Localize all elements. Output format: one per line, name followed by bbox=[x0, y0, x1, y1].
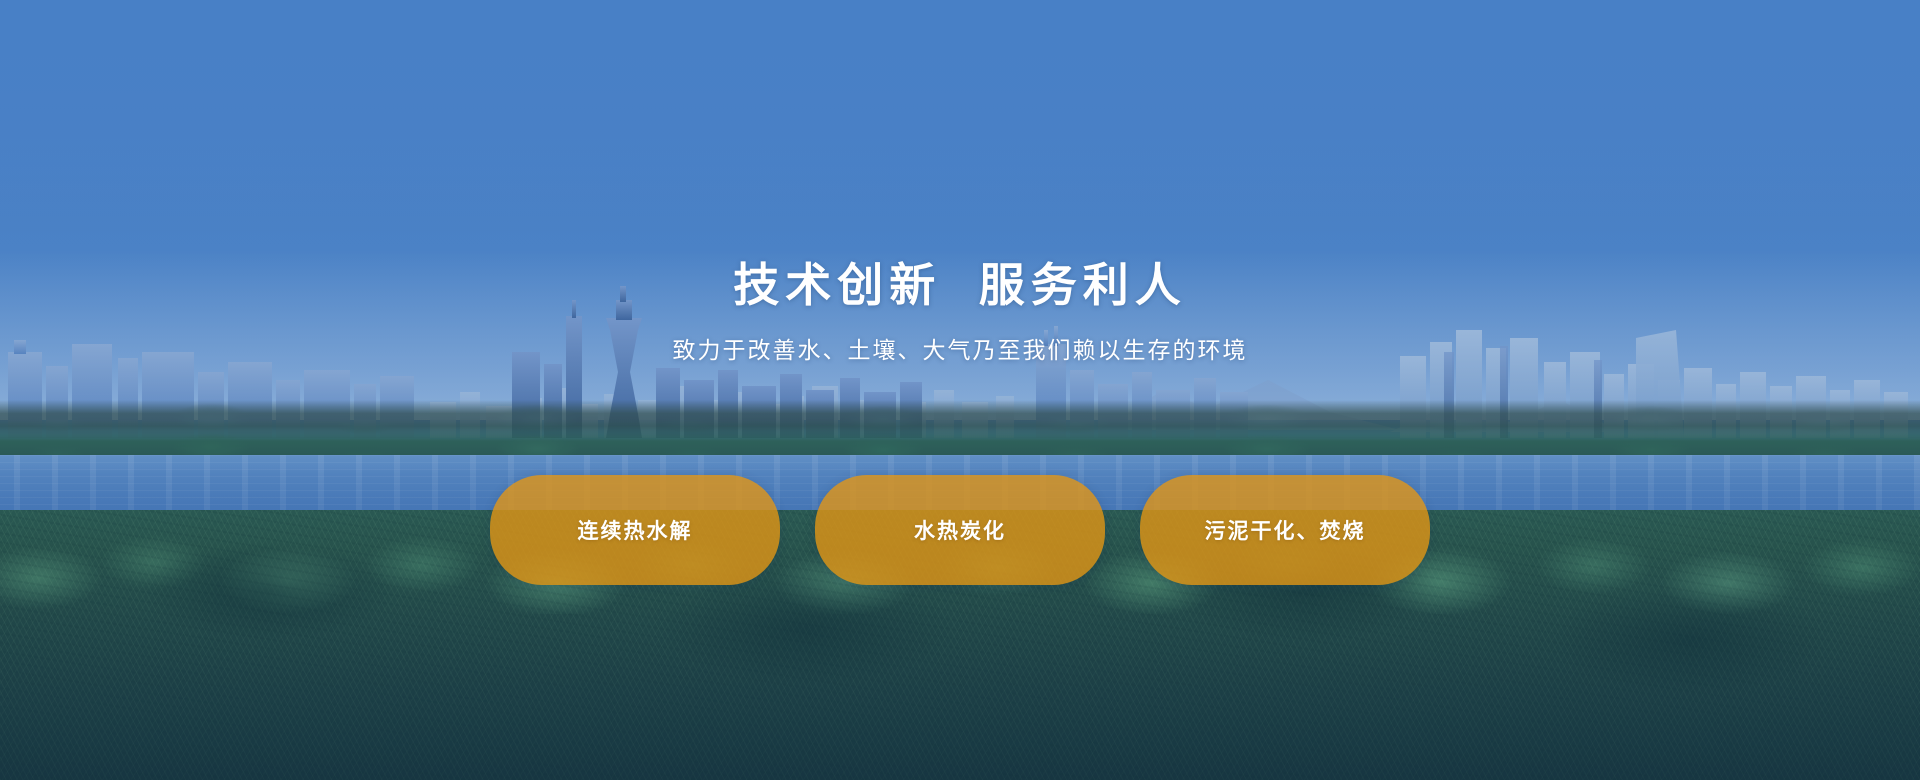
page-title: 技术创新 服务利人 bbox=[0, 0, 1920, 313]
cta-button-continuous-thermal-hydrolysis[interactable]: 连续热水解 bbox=[490, 475, 780, 585]
page-subtitle: 致力于改善水、土壤、大气乃至我们赖以生存的环境 bbox=[0, 331, 1920, 365]
hero-banner: 技术创新 服务利人 致力于改善水、土壤、大气乃至我们赖以生存的环境 连续热水解 … bbox=[0, 0, 1920, 780]
hero-text-block: 技术创新 服务利人 致力于改善水、土壤、大气乃至我们赖以生存的环境 bbox=[0, 0, 1920, 365]
cta-button-row: 连续热水解 水热炭化 污泥干化、焚烧 bbox=[0, 475, 1920, 585]
cta-button-sludge-drying-incineration[interactable]: 污泥干化、焚烧 bbox=[1140, 475, 1430, 585]
cta-button-hydrothermal-carbonization[interactable]: 水热炭化 bbox=[815, 475, 1105, 585]
